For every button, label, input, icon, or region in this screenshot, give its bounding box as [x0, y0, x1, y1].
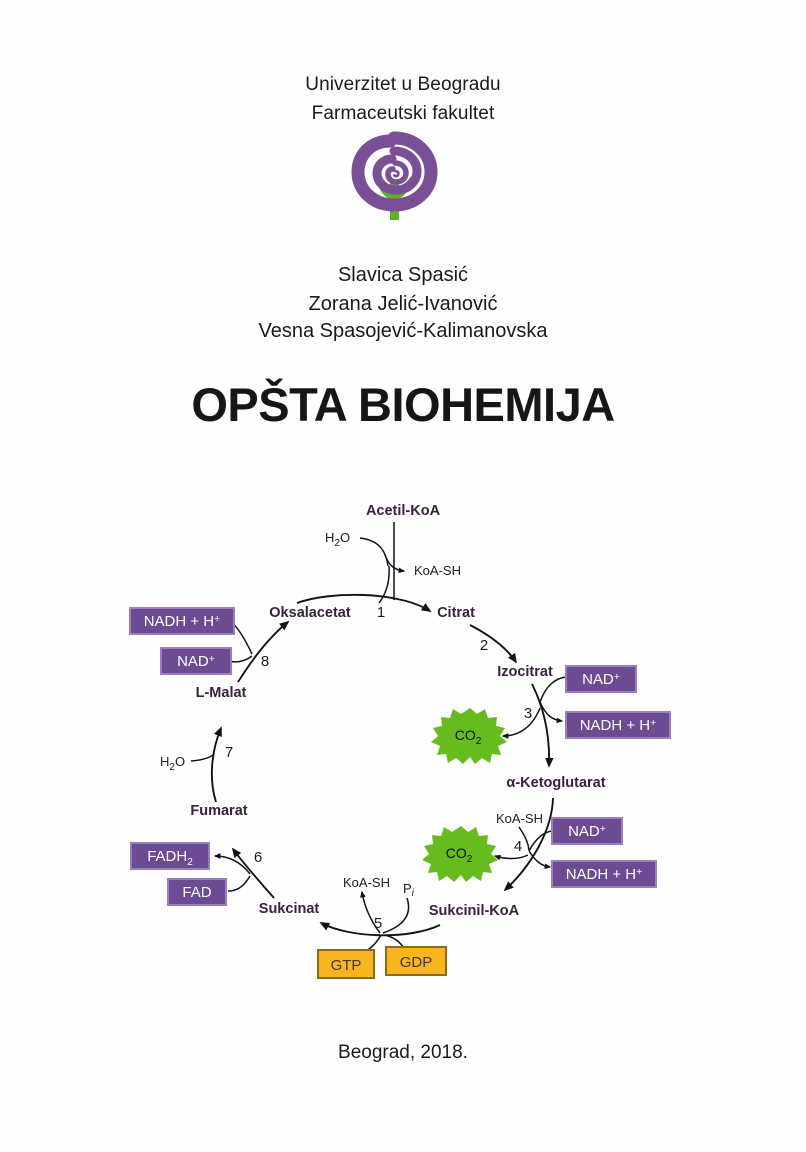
- metabolite-citrat: Citrat: [437, 605, 475, 621]
- metabolite-fumarat: Fumarat: [190, 803, 247, 819]
- koash-step5-label: KoA-SH: [343, 875, 390, 890]
- svg-text:NADH + H+: NADH + H+: [580, 717, 657, 734]
- step-number-4: 4: [514, 838, 522, 855]
- university-name: Univerzitet u Beogradu: [0, 74, 806, 96]
- svg-text:NADH + H+: NADH + H+: [144, 613, 221, 630]
- svg-text:GDP: GDP: [400, 954, 433, 971]
- arc-step-2: [470, 625, 516, 662]
- cofactor-box-nad-step4: NAD+: [552, 818, 622, 844]
- h2o-left-label: H2O: [160, 754, 185, 773]
- pi-step5-label: Pi: [403, 881, 415, 899]
- koash-step4-label: KoA-SH: [496, 811, 543, 826]
- svg-text:GTP: GTP: [331, 957, 362, 974]
- step-number-6: 6: [254, 849, 262, 866]
- cofactor-box-nadh-step4: NADH + H+: [552, 861, 656, 887]
- h2o-top-label: H2O: [325, 530, 350, 549]
- book-cover-page: Univerzitet u Beogradu Farmaceutski faku…: [0, 0, 806, 1152]
- cofactor-box-fadh2: FADH2: [131, 843, 209, 869]
- step-number-8: 8: [261, 653, 269, 670]
- nucleotide-box-gdp: GDP: [386, 947, 446, 975]
- svg-text:NADH + H+: NADH + H+: [566, 866, 643, 883]
- koash-top-label: KoA-SH: [414, 563, 461, 578]
- metabolite-oksalacetat: Oksalacetat: [269, 605, 351, 621]
- pharmacy-faculty-logo-icon: [345, 130, 445, 222]
- faculty-name: Farmaceutski fakultet: [0, 103, 806, 125]
- fad-in-arrow: [228, 876, 250, 891]
- cofactor-box-nadh-step8: NADH + H+: [130, 608, 234, 634]
- metabolite-izocitrat: Izocitrat: [497, 664, 553, 680]
- metabolite-sukcinil-koa: Sukcinil-KoA: [429, 903, 520, 919]
- step-number-3: 3: [524, 705, 532, 722]
- cofactor-box-nad-step8: NAD+: [161, 648, 231, 674]
- author-name: Vesna Spasojević-Kalimanovska: [0, 320, 806, 343]
- metabolite-l-malat: L-Malat: [196, 685, 247, 701]
- cofactor-box-nadh-step3: NADH + H+: [566, 712, 670, 738]
- krebs-cycle-diagram: Acetil-KoA H2O KoA-SH 1 Oksalacetat Citr…: [0, 470, 806, 1015]
- acetil-koa-label: Acetil-KoA: [366, 503, 441, 519]
- step-number-1: 1: [377, 604, 385, 621]
- nucleotide-box-gtp: GTP: [318, 950, 374, 978]
- co2-out-arrow-step3: [503, 708, 540, 736]
- cofactor-box-nad-step3: NAD+: [566, 666, 636, 692]
- arc-step-3: [532, 684, 549, 766]
- book-title: OPŠTA BIOHEMIJA: [0, 377, 806, 432]
- author-name: Zorana Jelić-Ivanović: [0, 293, 806, 316]
- h2o-in-arrow-step7: [191, 754, 214, 761]
- nad-in-arrow-step3: [540, 677, 566, 702]
- svg-text:FAD: FAD: [182, 884, 211, 901]
- step-number-7: 7: [225, 744, 233, 761]
- metabolite-sukcinat: Sukcinat: [259, 901, 320, 917]
- pi-in-arrow-step5: [383, 898, 409, 933]
- step-number-2: 2: [480, 637, 488, 654]
- h2o-top-arrow: [360, 538, 388, 566]
- arc-step-7: [212, 728, 221, 802]
- co2-burst-step3: CO2: [431, 708, 507, 764]
- metabolite-alpha-ketoglutarat: α-Ketoglutarat: [506, 775, 605, 791]
- cofactor-box-fad: FAD: [168, 879, 226, 905]
- place-and-year: Beograd, 2018.: [0, 1042, 806, 1064]
- nad-in-arrow-step4: [529, 831, 552, 851]
- author-name: Slavica Spasić: [0, 264, 806, 287]
- co2-out-arrow-step4: [495, 855, 528, 859]
- co2-burst-step4: CO2: [422, 826, 498, 882]
- arc-step-8: [238, 622, 288, 682]
